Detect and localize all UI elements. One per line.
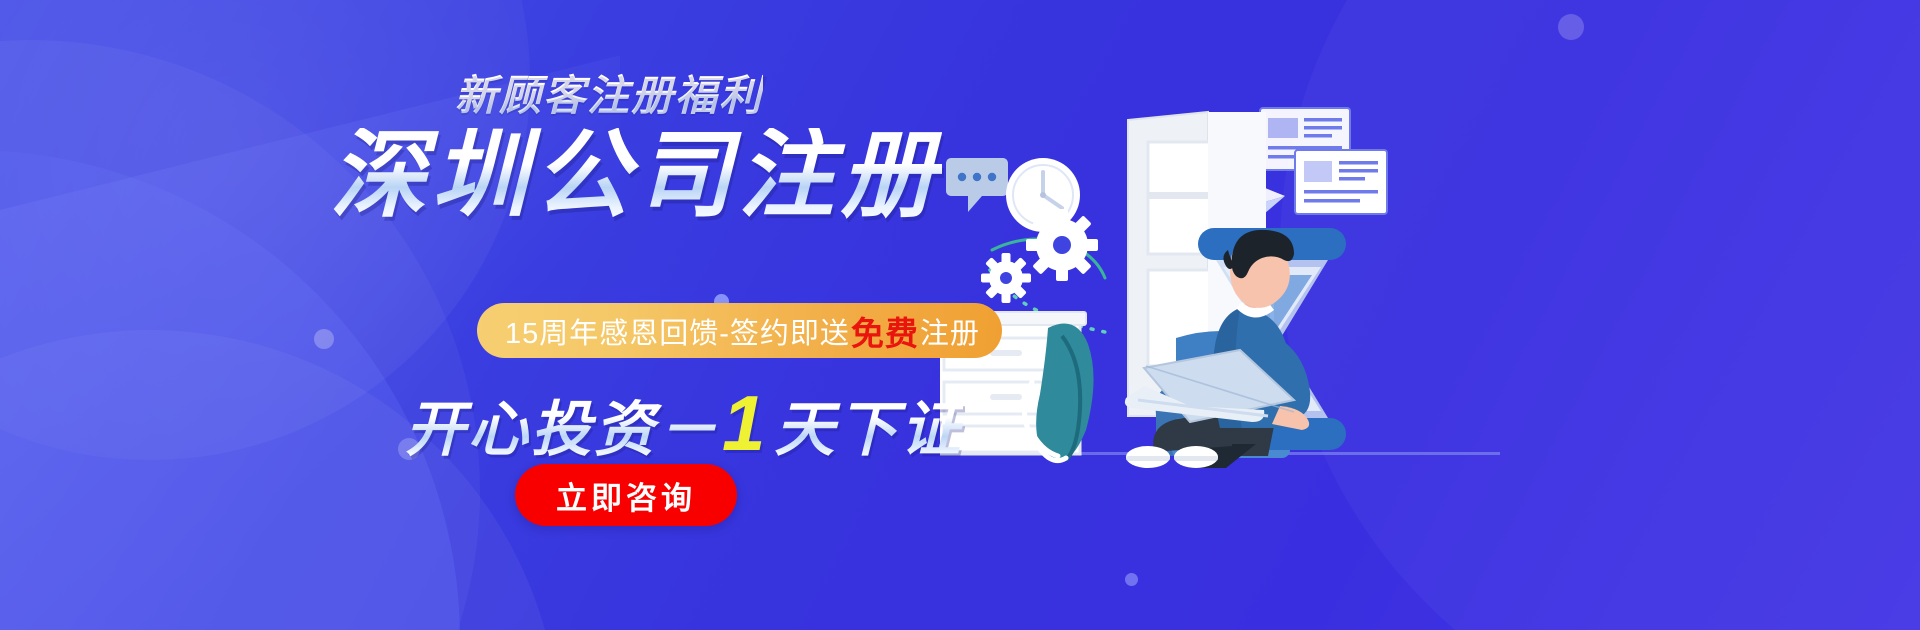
background-dot [1558,14,1584,40]
promo-badge-suffix: 注册 [920,310,980,352]
promo-badge-highlight: 免费 [851,307,919,355]
banner-copy: 新顾客注册福利 深圳公司注册 15周年感恩回馈-签约即送 免费 注册 开心投资－… [0,0,1000,630]
document-card-icon [1295,150,1387,214]
hero-illustration [940,100,1500,500]
page-title: 深圳公司注册 [330,128,942,224]
tagline-trail: 天下证 [774,381,963,468]
tagline-lead: 开心投资－ [405,381,720,468]
tagline-number: 1 [722,378,768,469]
background-dot [1125,573,1138,586]
consult-now-button[interactable]: 立即咨询 [515,464,737,526]
promo-badge: 15周年感恩回馈-签约即送 免费 注册 [477,303,1002,358]
consult-now-button-label: 立即咨询 [556,473,696,518]
promo-badge-prefix: 15周年感恩回馈-签约即送 [505,310,850,352]
eyebrow-text: 新顾客注册福利 [455,62,763,123]
promo-banner: 新顾客注册福利 深圳公司注册 15周年感恩回馈-签约即送 免费 注册 开心投资－… [0,0,1920,630]
tagline: 开心投资－ 1 天下证 [405,378,963,469]
